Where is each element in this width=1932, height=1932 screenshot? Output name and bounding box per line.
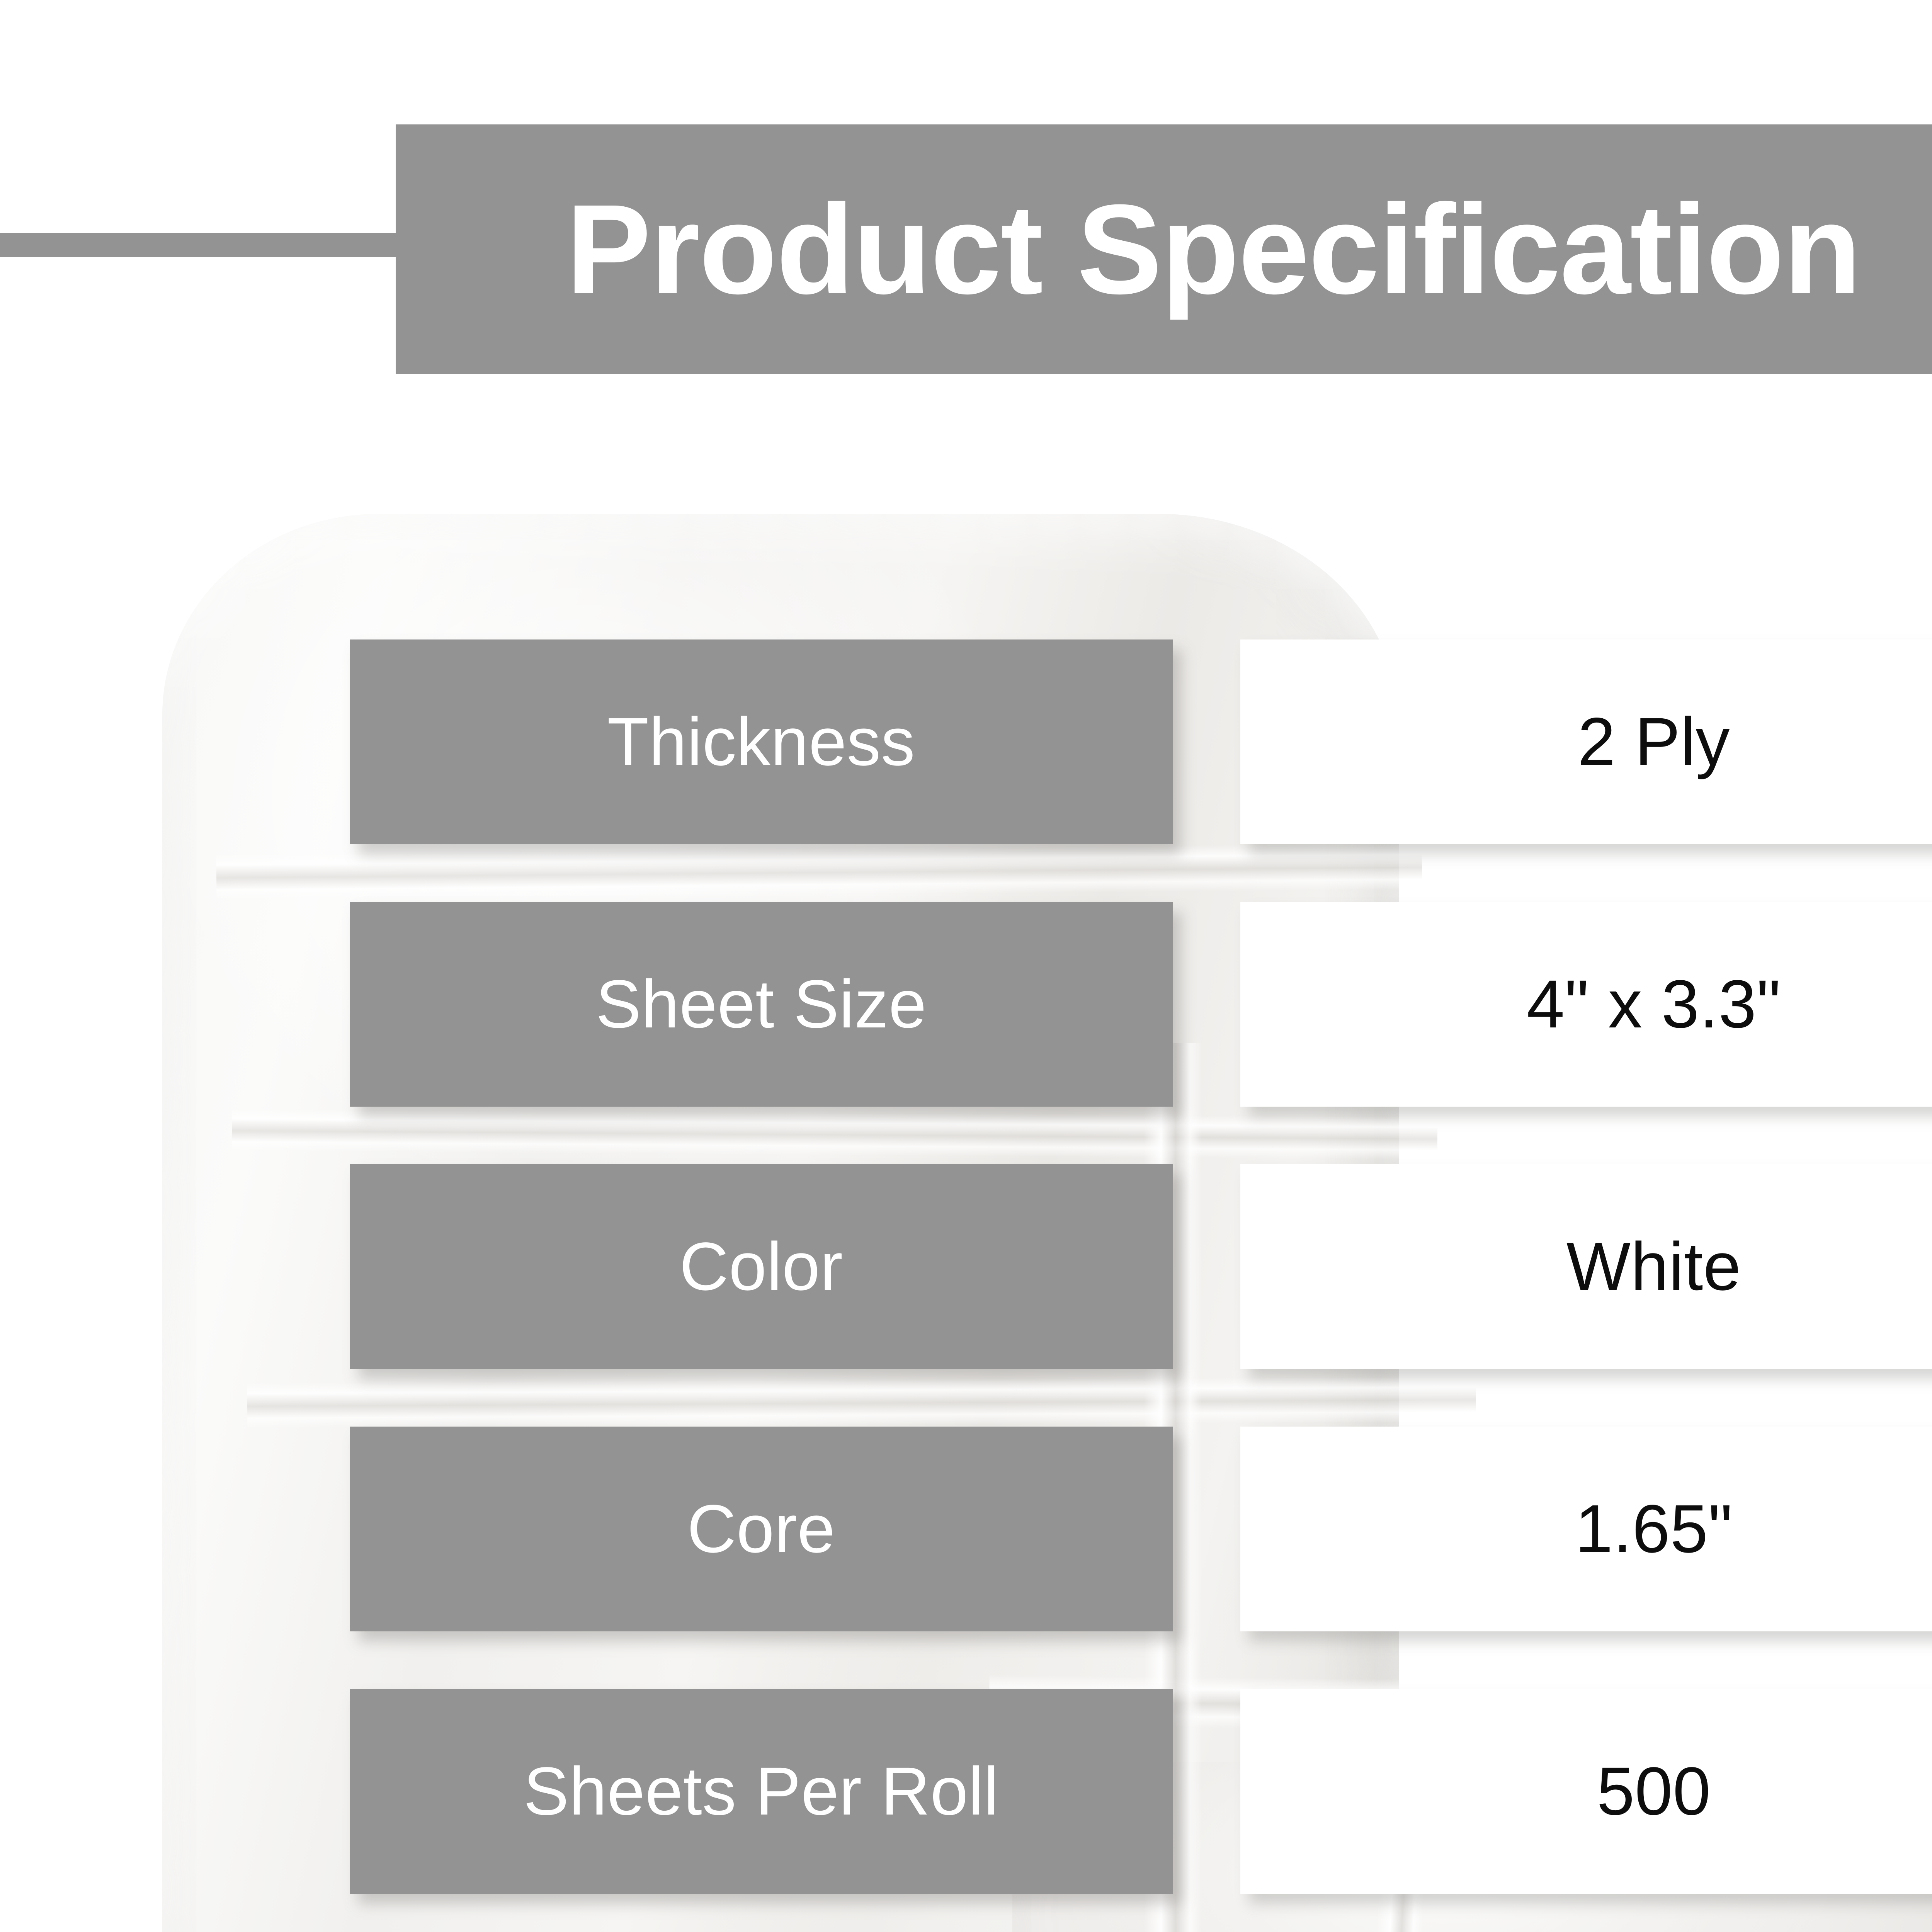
spec-value-text: 1.65" [1575,1495,1733,1563]
spec-value-cell: 1.65" [1240,1427,1932,1631]
spec-value-text: 500 [1597,1757,1711,1825]
spec-value-text: White [1566,1233,1741,1301]
spec-label-cell: Sheet Size [350,902,1173,1107]
spec-row: Thickness2 Ply [0,639,1932,844]
spec-value-cell: 500 [1240,1689,1932,1894]
spec-row: ColorWhite [0,1164,1932,1369]
spec-label-text: Sheets Per Roll [524,1757,999,1825]
spec-row: Sheet Size4" x 3.3" [0,902,1932,1107]
spec-value-text: 4" x 3.3" [1527,970,1781,1038]
spec-value-cell: 2 Ply [1240,639,1932,844]
spec-label-cell: Sheets Per Roll [350,1689,1173,1894]
spec-label-text: Color [679,1233,843,1301]
spec-value-text: 2 Ply [1578,708,1730,776]
product-specification-infographic: Product Specification Thickness2 PlyShee… [0,0,1932,1932]
spec-value-cell: 4" x 3.3" [1240,902,1932,1107]
spec-label-cell: Color [350,1164,1173,1369]
spec-row: Sheets Per Roll500 [0,1689,1932,1894]
specification-table: Thickness2 PlySheet Size4" x 3.3"ColorWh… [0,0,1932,1932]
spec-label-text: Core [687,1495,835,1563]
spec-label-text: Thickness [607,708,915,776]
spec-value-cell: White [1240,1164,1932,1369]
spec-label-text: Sheet Size [596,970,927,1038]
spec-label-cell: Core [350,1427,1173,1631]
spec-row: Core1.65" [0,1427,1932,1631]
spec-label-cell: Thickness [350,639,1173,844]
